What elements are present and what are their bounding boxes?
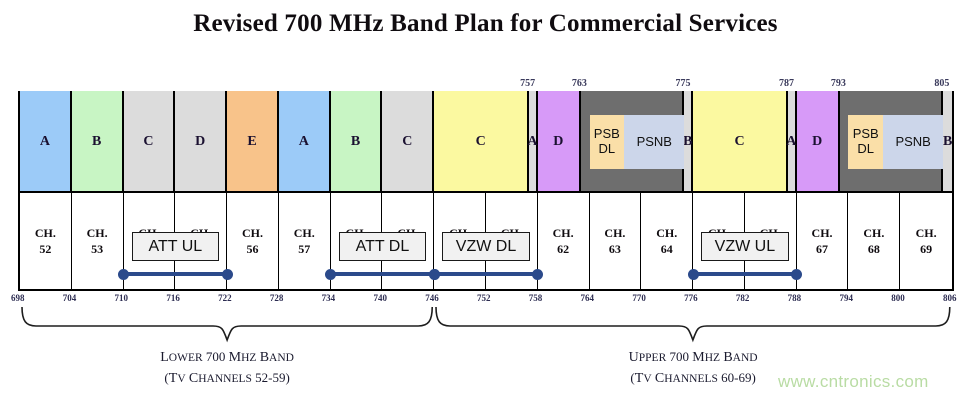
axis-tick-806: 806 bbox=[943, 293, 957, 303]
tv-channel-prefix: CH. bbox=[812, 226, 833, 241]
axis-tick-698: 698 bbox=[11, 293, 25, 303]
tv-channel-prefix: CH. bbox=[35, 226, 56, 241]
top-frequency-marker-793: 793 bbox=[831, 78, 846, 89]
tv-channel-number: 56 bbox=[246, 242, 258, 257]
band-group-label-lower: LOWER 700 MHZ BAND(TV CHANNELS 52-59) bbox=[97, 347, 357, 389]
spectrum-block-c-746: C bbox=[434, 91, 529, 192]
spectrum-block-label: D bbox=[812, 134, 822, 150]
axis-tick-752: 752 bbox=[477, 293, 491, 303]
band-plan-diagram: Revised 700 MHz Band Plan for Commercial… bbox=[0, 0, 971, 402]
spectrum-block-b-734: B bbox=[331, 91, 383, 192]
tv-channel-cell-63: CH.63 bbox=[590, 192, 642, 291]
spectrum-block-c-776: C bbox=[693, 91, 788, 192]
spectrum-block-b-775: B bbox=[684, 91, 693, 192]
spectrum-block-a-787: A bbox=[788, 91, 797, 192]
tv-channel-cell-67: CH.67 bbox=[797, 192, 849, 291]
axis-tick-728: 728 bbox=[270, 293, 284, 303]
tv-channel-number: 68 bbox=[868, 242, 880, 257]
tv-channel-number: 67 bbox=[816, 242, 828, 257]
axis-tick-770: 770 bbox=[632, 293, 646, 303]
spectrum-block-label: A bbox=[40, 134, 50, 150]
spectrum-block-d-716: D bbox=[175, 91, 227, 192]
tv-channel-cell-53: CH.53 bbox=[72, 192, 124, 291]
tv-channel-cell-62: CH.62 bbox=[538, 192, 590, 291]
tv-channel-prefix: CH. bbox=[916, 226, 937, 241]
tv-channel-number: 63 bbox=[609, 242, 621, 257]
span-endpoint-dot bbox=[325, 269, 336, 280]
watermark: www.cntronics.com bbox=[778, 372, 929, 392]
psnb-block-768: PSNB bbox=[624, 115, 684, 169]
axis-tick-758: 758 bbox=[529, 293, 543, 303]
spectrum-block-e-722: E bbox=[227, 91, 279, 192]
axis-tick-794: 794 bbox=[839, 293, 853, 303]
spectrum-block-label: C bbox=[143, 134, 153, 150]
axis-tick-764: 764 bbox=[581, 293, 595, 303]
tv-channel-prefix: CH. bbox=[87, 226, 108, 241]
axis-tick-722: 722 bbox=[218, 293, 232, 303]
top-frequency-marker-787: 787 bbox=[779, 78, 794, 89]
axis-tick-782: 782 bbox=[736, 293, 750, 303]
spectrum-block-d-758: D bbox=[538, 91, 581, 192]
tv-channel-number: 62 bbox=[557, 242, 569, 257]
psb-dl-block-794: PSBDL bbox=[848, 115, 883, 169]
tv-channel-number: 64 bbox=[661, 242, 673, 257]
spectrum-block-label: C bbox=[735, 134, 745, 150]
axis-tick-710: 710 bbox=[115, 293, 129, 303]
carrier-callout-vzw-ul[interactable]: VZW UL bbox=[701, 232, 789, 261]
span-endpoint-dot bbox=[429, 269, 440, 280]
public-safety-label: PSBDL bbox=[853, 127, 879, 157]
public-safety-label: PSNB bbox=[895, 135, 930, 150]
tv-channel-prefix: CH. bbox=[656, 226, 677, 241]
span-endpoint-dot bbox=[688, 269, 699, 280]
top-frequency-marker-757: 757 bbox=[520, 78, 535, 89]
spectrum-block-c-740: C bbox=[382, 91, 434, 192]
tv-channel-number: 57 bbox=[298, 242, 310, 257]
axis-tick-704: 704 bbox=[63, 293, 77, 303]
tv-channel-cell-52: CH.52 bbox=[20, 192, 72, 291]
spectrum-block-label: A bbox=[786, 134, 796, 150]
tv-channel-prefix: CH. bbox=[604, 226, 625, 241]
spectrum-block-label: E bbox=[247, 134, 256, 150]
spectrum-block-label: B bbox=[92, 134, 101, 150]
brace-upper-band bbox=[434, 305, 952, 343]
axis-tick-788: 788 bbox=[788, 293, 802, 303]
public-safety-label: PSBDL bbox=[594, 127, 620, 157]
axis-tick-746: 746 bbox=[425, 293, 439, 303]
spectrum-block-label: B bbox=[351, 134, 360, 150]
span-line-att-dl bbox=[331, 272, 435, 276]
span-endpoint-dot bbox=[118, 269, 129, 280]
spectrum-block-a-698: A bbox=[20, 91, 72, 192]
tv-channel-number: 53 bbox=[91, 242, 103, 257]
axis-tick-734: 734 bbox=[322, 293, 336, 303]
span-line-vzw-ul bbox=[693, 272, 797, 276]
top-frequency-marker-805: 805 bbox=[934, 78, 949, 89]
spectrum-block-label: D bbox=[553, 134, 563, 150]
span-line-att-ul bbox=[124, 272, 228, 276]
axis-tick-776: 776 bbox=[684, 293, 698, 303]
carrier-callout-att-ul[interactable]: ATT UL bbox=[132, 232, 220, 261]
span-endpoint-dot bbox=[791, 269, 802, 280]
spectrum-block-d-788: D bbox=[797, 91, 840, 192]
span-line-vzw-dl bbox=[434, 272, 538, 276]
span-endpoint-dot bbox=[222, 269, 233, 280]
top-frequency-marker-775: 775 bbox=[675, 78, 690, 89]
spectrum-block-a-757: A bbox=[529, 91, 538, 192]
spectrum-block-label: A bbox=[527, 134, 537, 150]
tv-channel-prefix: CH. bbox=[294, 226, 315, 241]
axis-tick-800: 800 bbox=[891, 293, 905, 303]
tv-channel-cell-69: CH.69 bbox=[900, 192, 952, 291]
axis-tick-716: 716 bbox=[166, 293, 180, 303]
carrier-callout-vzw-dl[interactable]: VZW DL bbox=[442, 232, 530, 261]
carrier-callout-att-dl[interactable]: ATT DL bbox=[339, 232, 427, 261]
tv-channel-prefix: CH. bbox=[242, 226, 263, 241]
band-group-channels: (TV CHANNELS 52-59) bbox=[97, 368, 357, 389]
spectrum-block-label: C bbox=[476, 134, 486, 150]
spectrum-block-a-728: A bbox=[279, 91, 331, 192]
spectrum-block-row: ABCDEABCCADBCADB bbox=[18, 91, 954, 192]
public-safety-label: PSNB bbox=[637, 135, 672, 150]
spectrum-block-label: D bbox=[195, 134, 205, 150]
axis-tick-740: 740 bbox=[373, 293, 387, 303]
tv-channel-prefix: CH. bbox=[553, 226, 574, 241]
spectrum-block-label: A bbox=[299, 134, 309, 150]
band-group-title: UPPER 700 MHZ BAND bbox=[563, 347, 823, 368]
tv-channel-prefix: CH. bbox=[863, 226, 884, 241]
tv-channel-number: 52 bbox=[39, 242, 51, 257]
tv-channel-cell-68: CH.68 bbox=[848, 192, 900, 291]
spectrum-block-b-805: B bbox=[943, 91, 952, 192]
tv-channel-cell-56: CH.56 bbox=[227, 192, 279, 291]
span-endpoint-dot bbox=[532, 269, 543, 280]
spectrum-block-label: B bbox=[683, 134, 692, 150]
band-group-title: LOWER 700 MHZ BAND bbox=[97, 347, 357, 368]
brace-lower-band bbox=[20, 305, 434, 343]
psnb-block-798: PSNB bbox=[883, 115, 943, 169]
spectrum-block-b-704: B bbox=[72, 91, 124, 192]
spectrum-block-label: C bbox=[402, 134, 412, 150]
tv-channel-number: 69 bbox=[920, 242, 932, 257]
spectrum-block-c-710: C bbox=[124, 91, 176, 192]
psb-dl-block-764: PSBDL bbox=[590, 115, 625, 169]
tv-channel-cell-64: CH.64 bbox=[641, 192, 693, 291]
page-title: Revised 700 MHz Band Plan for Commercial… bbox=[0, 10, 971, 38]
spectrum-block-label: B bbox=[943, 134, 952, 150]
tv-channel-cell-57: CH.57 bbox=[279, 192, 331, 291]
top-frequency-marker-763: 763 bbox=[572, 78, 587, 89]
